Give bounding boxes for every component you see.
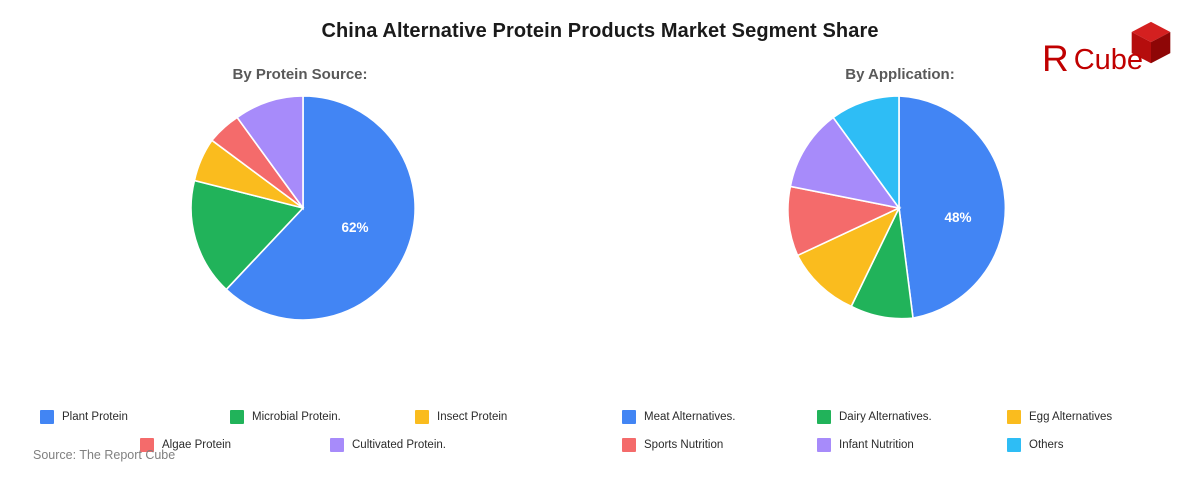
legend-swatch-dairy-alternatives (817, 410, 831, 424)
legend-label-plant-protein: Plant Protein (62, 411, 128, 423)
legend-protein-source: Plant Protein Microbial Protein. Insect … (0, 410, 600, 452)
pie-chart-protein-source: 62% (0, 95, 600, 345)
legend-item-dairy-alternatives[interactable]: Dairy Alternatives. (817, 410, 1007, 424)
legend-swatch-cultivated-protein (330, 438, 344, 452)
legend-swatch-egg-alternatives (1007, 410, 1021, 424)
chart-page: China Alternative Protein Products Marke… (0, 0, 1200, 480)
subtitle-application: By Application: (600, 66, 1200, 83)
pie-label-meat-alternatives: 48% (944, 210, 971, 225)
panel-application: By Application: 48% (600, 58, 1200, 408)
pie-chart-application: 48% (600, 95, 1200, 345)
legend-item-infant-nutrition[interactable]: Infant Nutrition (817, 438, 1007, 452)
legend-item-insect-protein[interactable]: Insect Protein (415, 410, 575, 424)
subtitle-protein-source: By Protein Source: (0, 66, 600, 83)
legend-label-sports-nutrition: Sports Nutrition (644, 439, 723, 451)
legend-label-others: Others (1029, 439, 1064, 451)
legend-label-egg-alternatives: Egg Alternatives (1029, 411, 1112, 423)
legend-item-meat-alternatives[interactable]: Meat Alternatives. (622, 410, 817, 424)
legend-item-sports-nutrition[interactable]: Sports Nutrition (622, 438, 817, 452)
legend-application: Meat Alternatives. Dairy Alternatives. E… (600, 410, 1200, 452)
legend-swatch-meat-alternatives (622, 410, 636, 424)
legend-item-cultivated-protein[interactable]: Cultivated Protein. (330, 438, 515, 452)
pie-label-plant-protein: 62% (341, 220, 368, 235)
legend-label-microbial-protein: Microbial Protein. (252, 411, 341, 423)
legend-item-others[interactable]: Others (1007, 438, 1157, 452)
legend-item-plant-protein[interactable]: Plant Protein (40, 410, 230, 424)
panel-protein-source: By Protein Source: 62% P (0, 58, 600, 408)
legend-label-cultivated-protein: Cultivated Protein. (352, 439, 446, 451)
legend-label-meat-alternatives: Meat Alternatives. (644, 411, 735, 423)
legend-label-dairy-alternatives: Dairy Alternatives. (839, 411, 932, 423)
source-note: Source: The Report Cube (33, 448, 175, 462)
legend-item-egg-alternatives[interactable]: Egg Alternatives (1007, 410, 1157, 424)
legend-swatch-insect-protein (415, 410, 429, 424)
legend-label-infant-nutrition: Infant Nutrition (839, 439, 914, 451)
legend-swatch-sports-nutrition (622, 438, 636, 452)
page-title: China Alternative Protein Products Marke… (0, 20, 1200, 43)
legend-swatch-others (1007, 438, 1021, 452)
pie-slice-meat-alternatives (899, 96, 1005, 318)
legend-swatch-infant-nutrition (817, 438, 831, 452)
legend-item-microbial-protein[interactable]: Microbial Protein. (230, 410, 415, 424)
legend-swatch-plant-protein (40, 410, 54, 424)
legend-label-insect-protein: Insect Protein (437, 411, 507, 423)
legend-swatch-microbial-protein (230, 410, 244, 424)
